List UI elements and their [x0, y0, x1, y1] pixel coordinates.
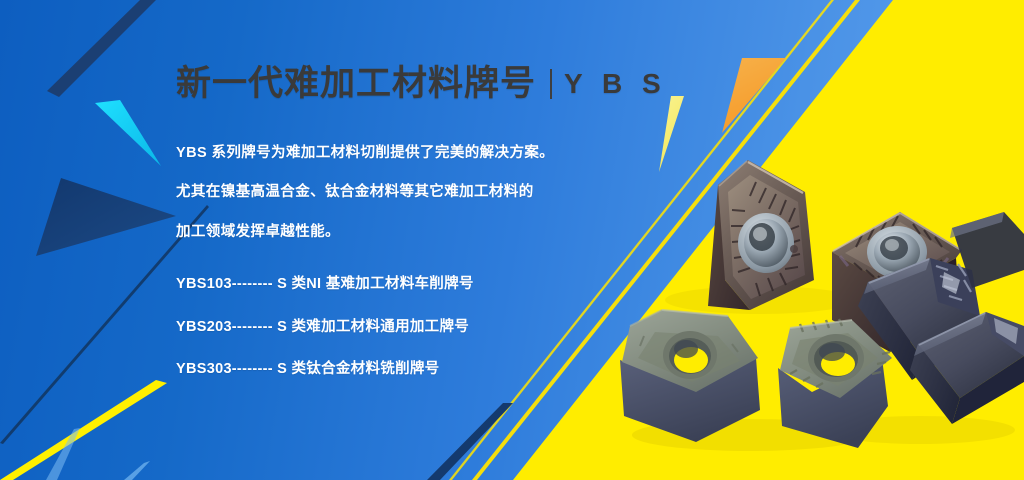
copy-block: 新一代难加工材料牌号 Y B S YBS 系列牌号为难加工材料切削提供了完美的解… [176, 62, 606, 405]
description-paragraph: YBS 系列牌号为难加工材料切削提供了完美的解决方案。 尤其在镍基高温合金、钛合… [176, 146, 606, 240]
navy-diagonal-bar-top-left [47, 0, 156, 97]
headline-sub: Y B S [564, 66, 667, 101]
list-item: YBS103-------- S 类NI 基难加工材料车削牌号 [176, 277, 606, 292]
description-line: 尤其在镍基高温合金、钛合金材料等其它难加工材料的 [176, 185, 606, 200]
product-grade-list: YBS103-------- S 类NI 基难加工材料车削牌号 YBS203--… [176, 277, 606, 377]
description-line: 加工领域发挥卓越性能。 [176, 225, 606, 240]
headline-divider [550, 69, 552, 99]
list-item: YBS303-------- S 类钛合金材料铣削牌号 [176, 362, 606, 377]
navy-diagonal-bar-bottom [427, 403, 513, 480]
cyan-triangle [95, 100, 161, 166]
navy-triangle [36, 178, 176, 256]
product-photo-inserts [600, 130, 1024, 460]
description-line: YBS 系列牌号为难加工材料切削提供了完美的解决方案。 [176, 146, 606, 161]
headline-main: 新一代难加工材料牌号 [176, 62, 536, 106]
inserts-illustration [600, 130, 1024, 460]
promo-banner: 新一代难加工材料牌号 Y B S YBS 系列牌号为难加工材料切削提供了完美的解… [0, 0, 1024, 480]
list-item: YBS203-------- S 类难加工材料通用加工牌号 [176, 320, 606, 335]
light-blue-triangle [124, 461, 150, 480]
headline: 新一代难加工材料牌号 Y B S [176, 62, 606, 106]
